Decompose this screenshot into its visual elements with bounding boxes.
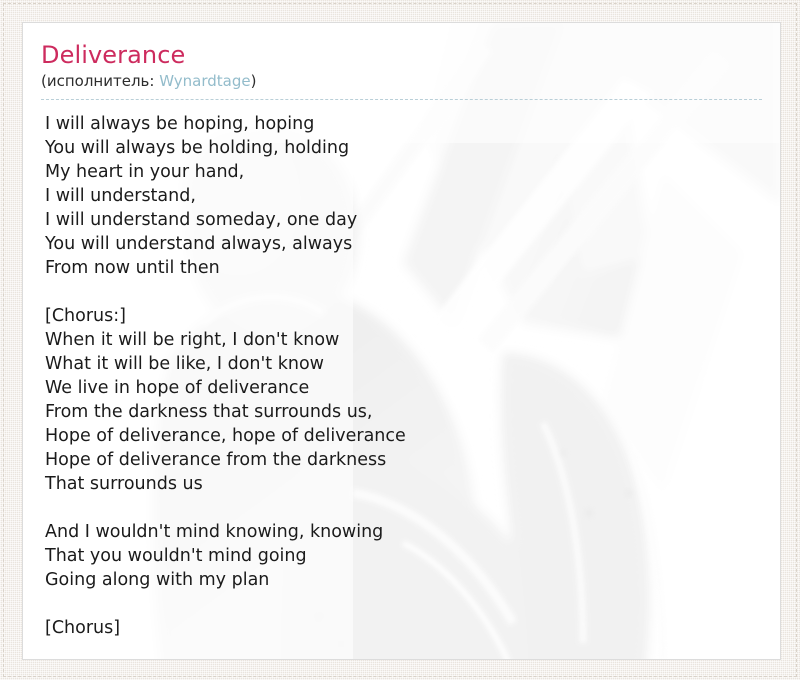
song-header: Deliverance (исполнитель: Wynardtage)	[41, 41, 762, 100]
lyric-line: From now until then	[45, 256, 762, 280]
lyric-blank-line	[45, 280, 762, 304]
lyric-line: I will always be hoping, hoping	[45, 112, 762, 136]
lyric-line: I will understand someday, one day	[45, 208, 762, 232]
lyric-blank-line	[45, 592, 762, 616]
lyric-line: We live in hope of deliverance	[45, 376, 762, 400]
header-divider	[41, 99, 762, 100]
lyric-line: That you wouldn't mind going	[45, 544, 762, 568]
page-title: Deliverance	[41, 41, 762, 69]
lyric-line: You will understand always, always	[45, 232, 762, 256]
lyric-line: You will always be holding, holding	[45, 136, 762, 160]
lyric-line: [Chorus:]	[45, 304, 762, 328]
lyrics-card: Deliverance (исполнитель: Wynardtage) I …	[22, 22, 781, 660]
lyric-line: Going along with my plan	[45, 568, 762, 592]
lyric-line: My heart in your hand,	[45, 160, 762, 184]
lyric-line: Hope of deliverance, hope of deliverance	[45, 424, 762, 448]
artist-label: (исполнитель:	[41, 72, 159, 90]
lyric-line: From the darkness that surrounds us,	[45, 400, 762, 424]
lyric-line: Hope of deliverance from the darkness	[45, 448, 762, 472]
lyric-line: And I wouldn't mind knowing, knowing	[45, 520, 762, 544]
artist-suffix: )	[251, 72, 257, 90]
lyric-blank-line	[45, 496, 762, 520]
lyric-line: What it will be like, I don't know	[45, 352, 762, 376]
lyric-line: That surrounds us	[45, 472, 762, 496]
lyric-line: I will understand,	[45, 184, 762, 208]
lyric-line: [Chorus]	[45, 616, 762, 640]
lyric-line: When it will be right, I don't know	[45, 328, 762, 352]
artist-line: (исполнитель: Wynardtage)	[41, 71, 762, 96]
artist-link[interactable]: Wynardtage	[159, 72, 250, 90]
lyrics-text: I will always be hoping, hopingYou will …	[41, 112, 762, 640]
